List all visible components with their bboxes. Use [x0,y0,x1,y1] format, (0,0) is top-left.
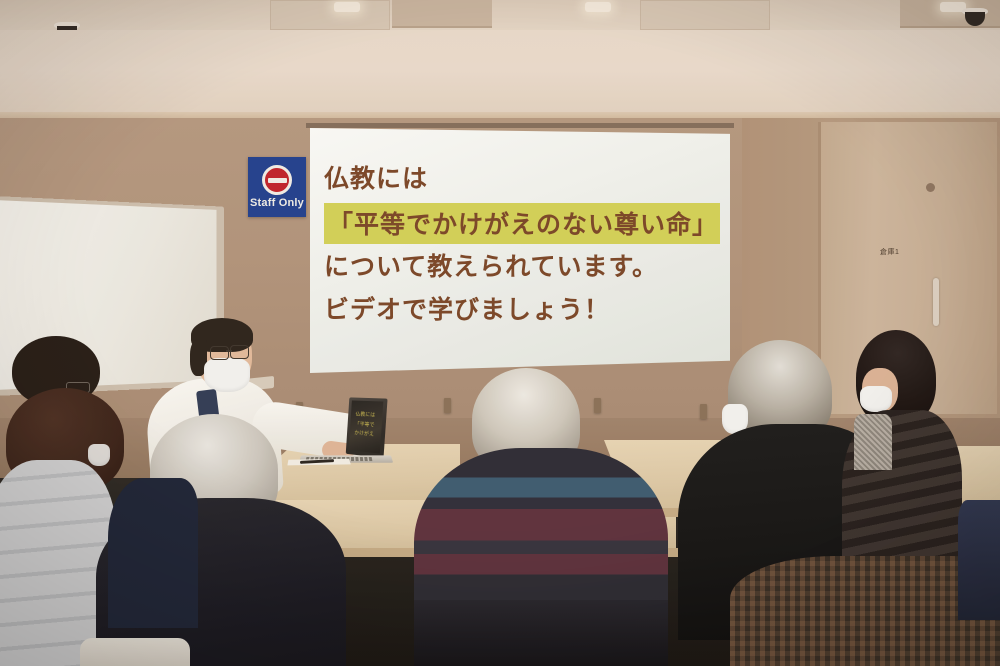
staff-only-sign: Staff Only [248,157,306,217]
wall-hook-3 [594,398,601,413]
no-entry-bar [268,178,287,183]
laptop-screen-line-3: かけがえ [354,429,374,440]
ceiling-panel-left [270,0,390,30]
presentation-slide: 仏教には 「平等でかけがえのない尊い命」 について教えられています。 ビデオで学… [310,128,730,373]
screen-top-rail [306,123,734,128]
slide-line-2-text-highlighted: 「平等でかけがえのない尊い命」 [324,203,720,244]
laptop-lid[interactable]: 仏教には 「平等で かけがえ [346,397,388,458]
attendee-right-woman-inner-shirt [854,414,892,470]
attendee-front-left-face-mask [88,444,110,466]
slide-line-1-text: 仏教には [324,165,428,193]
attendee-left-inner-navy [108,478,198,628]
ceiling-light-a [334,2,360,12]
lecture-room-photo: 倉庫1 ‎ ‎ Staff Only 仏教には 「平等でかけがえのない尊い命」 … [0,0,1000,666]
slide-line-4: ビデオで学びましょう！ [324,291,720,330]
slide-line-1: 仏教には [324,160,720,199]
wall-hook-2 [444,398,451,413]
laptop-screen-text: 仏教には 「平等で かけがえ [354,410,376,440]
ceiling-vent-center [392,0,492,28]
laptop-screen: 仏教には 「平等で かけがえ [349,400,384,453]
door-handle[interactable] [933,278,939,326]
upper-wall [0,30,1000,118]
attendee-right-woman-face-mask [860,386,892,412]
slide-line-3-text: について教えられています。 [324,253,658,281]
door-stopper [926,183,935,192]
presenter-glasses-bridge [226,350,232,352]
presenter-glasses-right-lens [230,345,249,359]
presenter-face-mask [204,358,250,392]
slide-line-2: 「平等でかけがえのない尊い命」 [324,203,720,244]
wall-hook-4 [700,404,707,419]
ceiling [0,0,1000,30]
attendee-far-right-seat-back [958,500,1000,620]
slide-line-4-text: ビデオで学びましょう！ [324,296,610,324]
slide-line-3: について教えられています。 [324,248,720,287]
laptop-screen-line-1: 仏教には [355,410,375,421]
presenter-glasses-left-lens [210,346,229,360]
storage-door-label: 倉庫1 [880,247,899,257]
attendee-center-shoulder-shadow [414,600,668,666]
staff-only-label: Staff Only [250,197,304,209]
ceiling-light-b [585,2,611,12]
no-entry-icon [262,165,292,195]
camera-dome [965,12,985,26]
projection-screen: 仏教には 「平等でかけがえのない尊い命」 について教えられています。 ビデオで学… [310,128,730,373]
dome-camera-right [962,8,988,28]
ceiling-panel-right [640,0,770,30]
chair-left[interactable] [80,638,190,666]
